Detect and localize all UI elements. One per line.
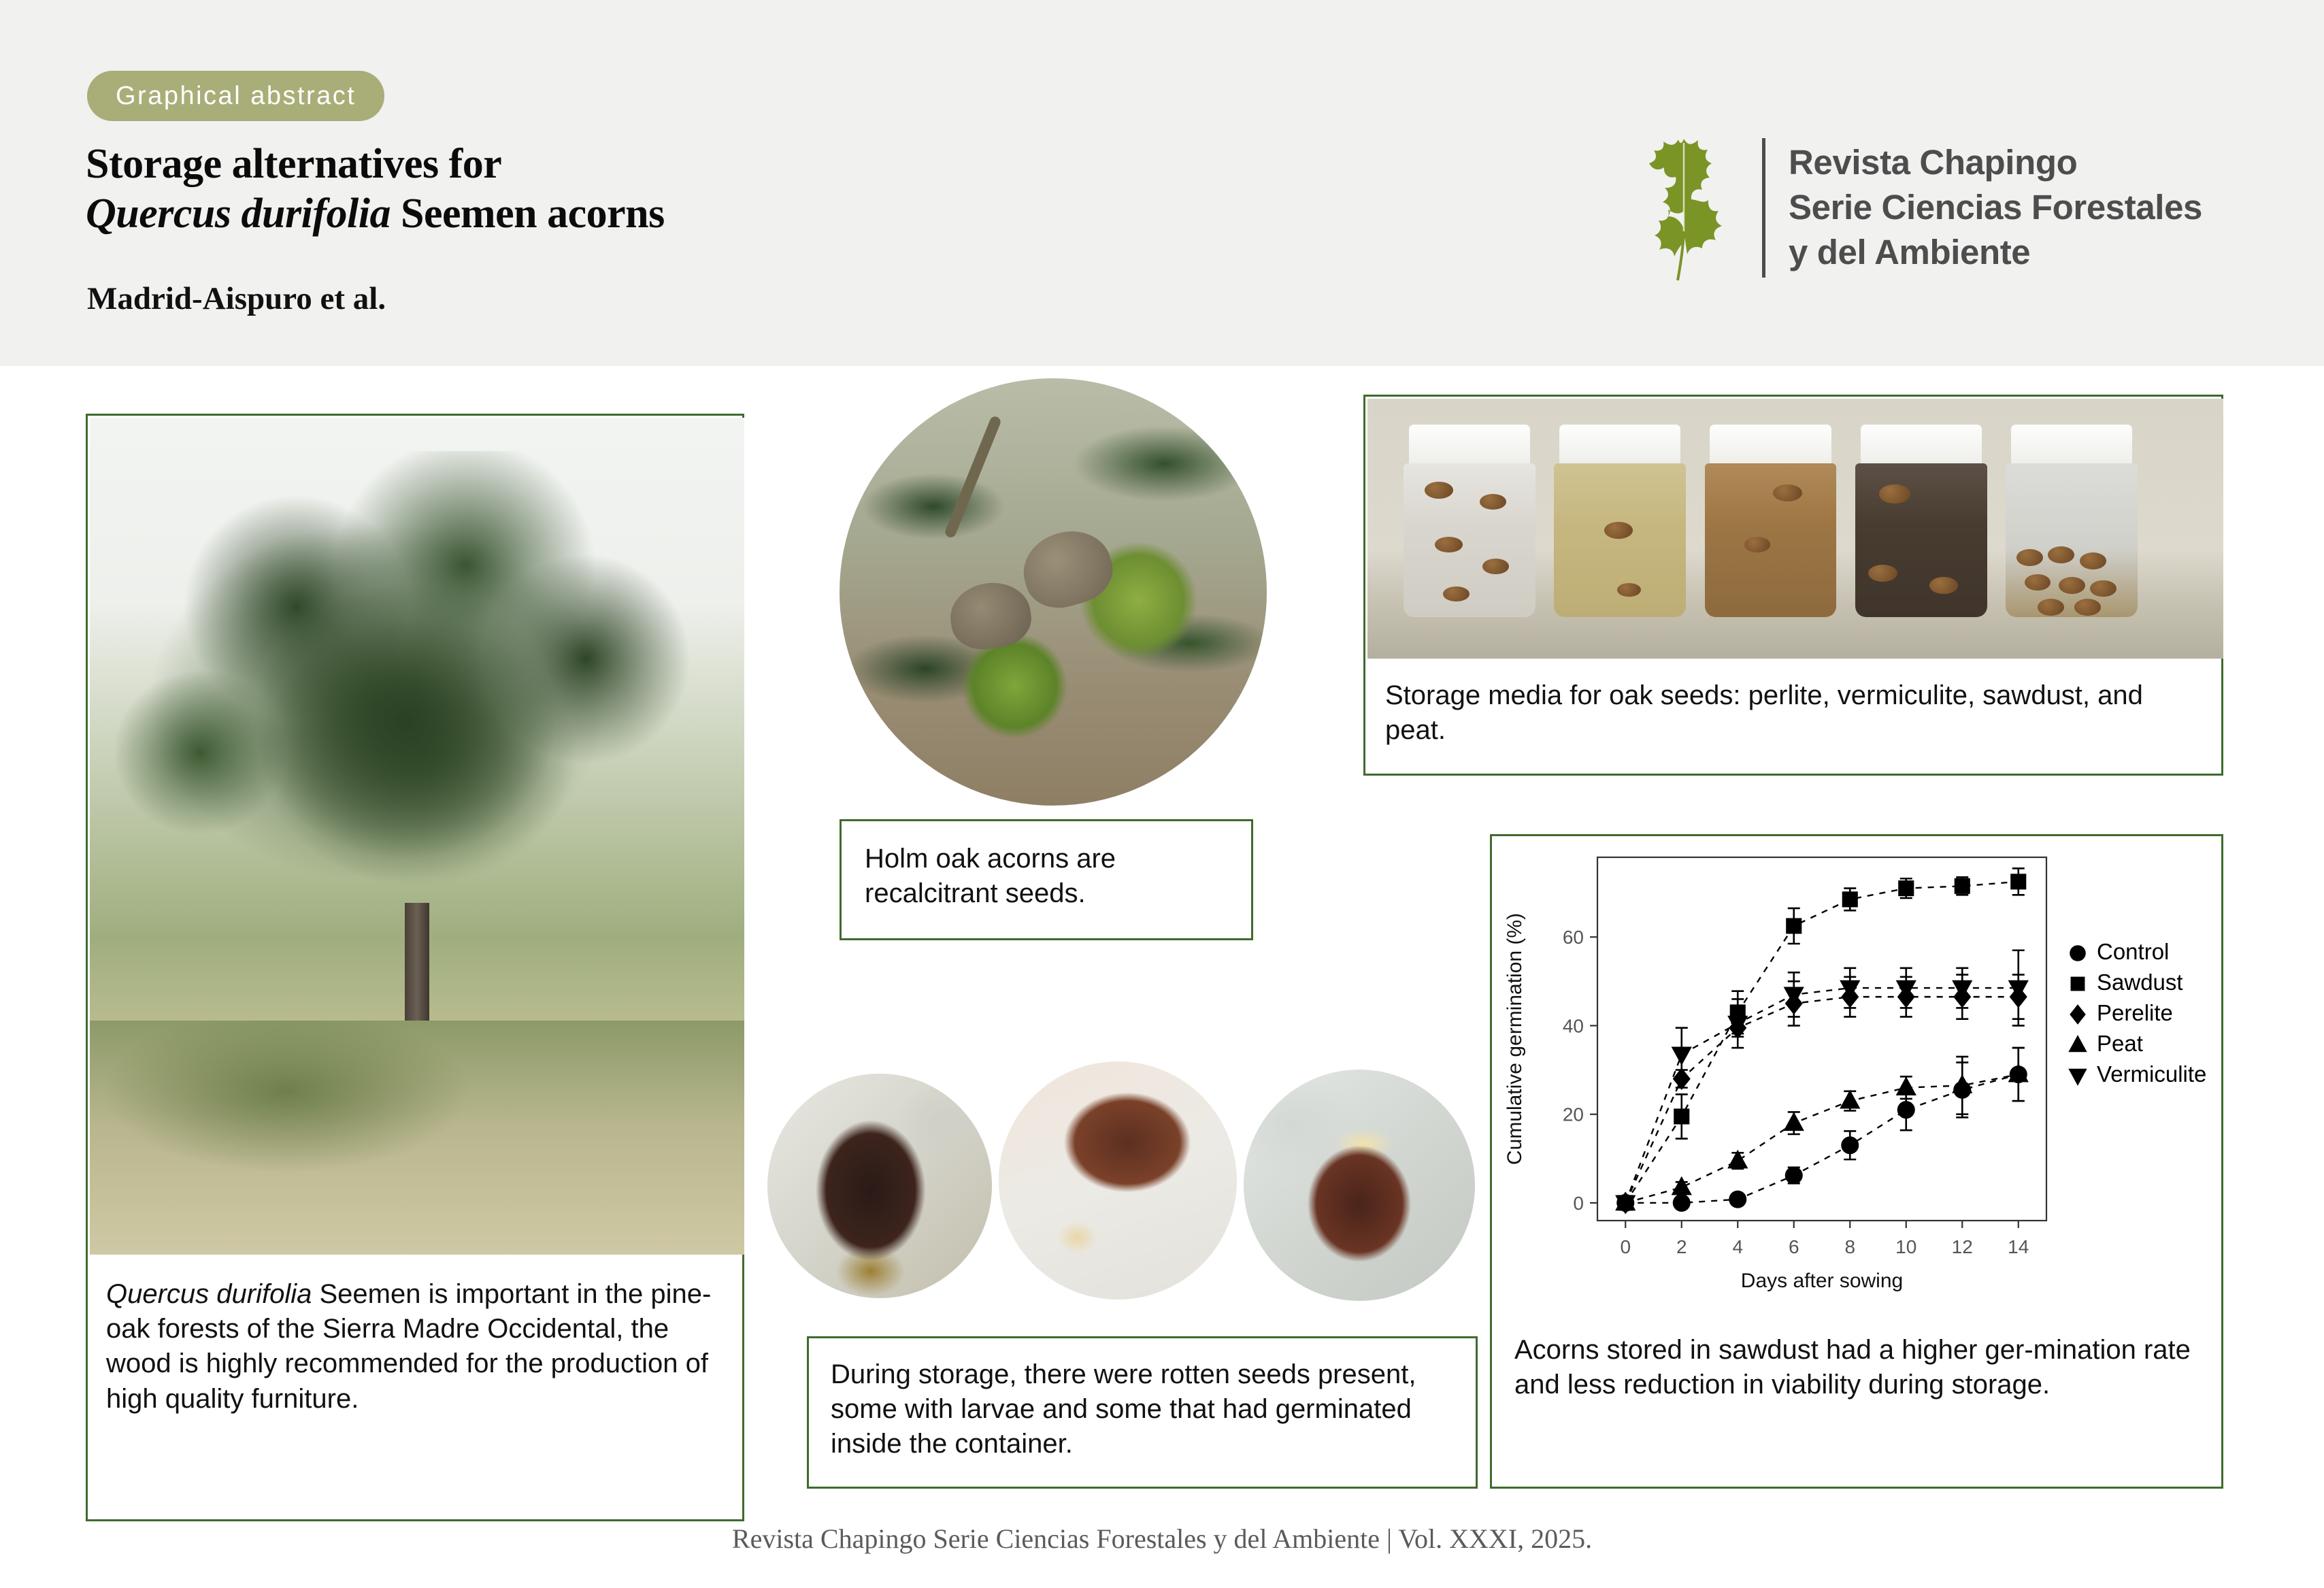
oak-tree-photo — [90, 418, 744, 1255]
jar-lid — [1409, 425, 1530, 465]
logo-divider — [1762, 138, 1765, 278]
svg-text:Cumulative germination (%): Cumulative germination (%) — [1504, 913, 1526, 1165]
svg-text:14: 14 — [2008, 1236, 2029, 1257]
tree-ground — [90, 1021, 744, 1255]
jar-lid — [2011, 425, 2132, 465]
title-line-1: Storage alternatives for — [86, 139, 665, 189]
footer: Revista Chapingo Serie Ciencias Forestal… — [0, 1523, 2324, 1555]
svg-text:6: 6 — [1789, 1236, 1799, 1257]
svg-text:8: 8 — [1844, 1236, 1855, 1257]
title-line-2: Quercus durifolia Seemen acorns — [86, 189, 665, 239]
rotten-seed-photo — [767, 1074, 992, 1298]
germinated-seed-photo — [1244, 1070, 1475, 1301]
jar-body — [1855, 463, 1987, 617]
tree-canopy — [116, 451, 718, 970]
species-name: Quercus durifolia — [86, 191, 391, 237]
tree-caption-species: Quercus durifolia — [106, 1279, 312, 1309]
svg-text:20: 20 — [1563, 1104, 1584, 1125]
tree-panel: Quercus durifolia Seemen is important in… — [86, 414, 744, 1521]
svg-text:Sawdust: Sawdust — [2097, 970, 2183, 995]
badge-label: Graphical abstract — [116, 82, 356, 111]
seed-in-jar — [1773, 484, 1802, 501]
seed-in-jar — [2048, 546, 2074, 563]
branch-stem — [944, 415, 1002, 539]
jar-vermiculite — [1554, 425, 1686, 617]
seed-in-jar — [2016, 549, 2043, 566]
svg-text:60: 60 — [1563, 927, 1584, 948]
svg-text:Vermiculite: Vermiculite — [2097, 1061, 2206, 1087]
header-band: Graphical abstract Storage alternatives … — [0, 0, 2324, 366]
seed-in-jar — [2080, 552, 2106, 569]
acorn-branch-photo — [840, 378, 1267, 806]
jar-sawdust — [1705, 425, 1837, 617]
jar-body — [1404, 463, 1535, 617]
journal-logo: Revista Chapingo Serie Ciencias Forestal… — [1612, 129, 2202, 286]
seed-in-jar — [2059, 577, 2085, 594]
journal-line-1: Revista Chapingo — [1789, 140, 2202, 185]
jar-lid — [1710, 425, 1831, 465]
svg-text:Peat: Peat — [2097, 1031, 2143, 1056]
acorn-caption: Holm oak acorns are recalcitrant seeds. — [842, 821, 1251, 931]
oak-leaf-svg — [1612, 129, 1755, 286]
svg-text:10: 10 — [1895, 1236, 1916, 1257]
svg-text:0: 0 — [1573, 1193, 1584, 1214]
jar-body — [1705, 463, 1837, 617]
storage-jars-photo — [1367, 399, 2223, 659]
seed-in-jar — [1929, 577, 1959, 594]
svg-text:Perelite: Perelite — [2097, 1000, 2173, 1025]
seed-in-jar — [1480, 494, 1506, 510]
seed-in-jar — [2038, 599, 2064, 616]
seed-caption: During storage, there were rotten seeds … — [809, 1338, 1476, 1481]
svg-text:Control: Control — [2097, 939, 2169, 964]
seed-in-jar — [1744, 537, 1771, 552]
chart-panel: 020406002468101214Days after sowingCumul… — [1490, 834, 2223, 1489]
svg-text:0: 0 — [1620, 1236, 1631, 1257]
svg-text:Days after sowing: Days after sowing — [1741, 1270, 1903, 1292]
seed-in-jar — [1443, 586, 1470, 602]
acorn-cup-upper — [1015, 521, 1120, 616]
acorn-caption-panel: Holm oak acorns are recalcitrant seeds. — [840, 819, 1253, 940]
jar-body — [1554, 463, 1686, 617]
jar-peat — [1855, 425, 1987, 617]
seed-in-jar — [2074, 599, 2101, 616]
jar-body — [2006, 463, 2138, 617]
oak-leaf-icon — [1612, 129, 1755, 286]
larva-hole-seed-photo — [999, 1061, 1237, 1300]
seed-in-jar — [2025, 574, 2051, 591]
jars-panel: Storage media for oak seeds: perlite, ve… — [1363, 395, 2223, 776]
seed-in-jar — [1868, 565, 1897, 582]
svg-text:4: 4 — [1732, 1236, 1743, 1257]
graphical-abstract-badge: Graphical abstract — [87, 71, 384, 121]
seed-caption-panel: During storage, there were rotten seeds … — [807, 1336, 1478, 1489]
seed-in-jar — [1435, 537, 1463, 552]
seed-in-jar — [2090, 580, 2116, 597]
seed-in-jar — [1617, 583, 1641, 597]
footer-text: Revista Chapingo Serie Ciencias Forestal… — [732, 1523, 1592, 1554]
page-title: Storage alternatives for Quercus durifol… — [86, 139, 665, 239]
title-line-2-rest: Seemen acorns — [391, 191, 665, 237]
jar-lid — [1559, 425, 1680, 465]
seed-in-jar — [1604, 522, 1633, 539]
chart-svg: 020406002468101214Days after sowingCumul… — [1494, 838, 2223, 1314]
seed-in-jar — [1879, 484, 1910, 503]
chart-caption: Acorns stored in sawdust had a higher ge… — [1494, 1317, 2223, 1402]
jar-control — [2006, 425, 2138, 617]
germination-chart: 020406002468101214Days after sowingCumul… — [1494, 838, 2223, 1314]
journal-line-3: y del Ambiente — [1789, 230, 2202, 275]
tree-caption: Quercus durifolia Seemen is important in… — [90, 1259, 744, 1417]
jars-caption: Storage media for oak seeds: perlite, ve… — [1367, 663, 2223, 748]
authors-line: Madrid-Aispuro et al. — [87, 280, 386, 317]
svg-text:12: 12 — [1952, 1236, 1973, 1257]
svg-text:2: 2 — [1676, 1236, 1687, 1257]
journal-line-2: Serie Ciencias Forestales — [1789, 185, 2202, 230]
seed-in-jar — [1425, 482, 1454, 499]
acorn-cup-lower — [946, 578, 1035, 654]
journal-name: Revista Chapingo Serie Ciencias Forestal… — [1789, 140, 2202, 276]
jar-lid — [1861, 425, 1982, 465]
jar-perlite — [1404, 425, 1535, 617]
svg-text:40: 40 — [1563, 1015, 1584, 1036]
seed-in-jar — [1482, 559, 1509, 574]
